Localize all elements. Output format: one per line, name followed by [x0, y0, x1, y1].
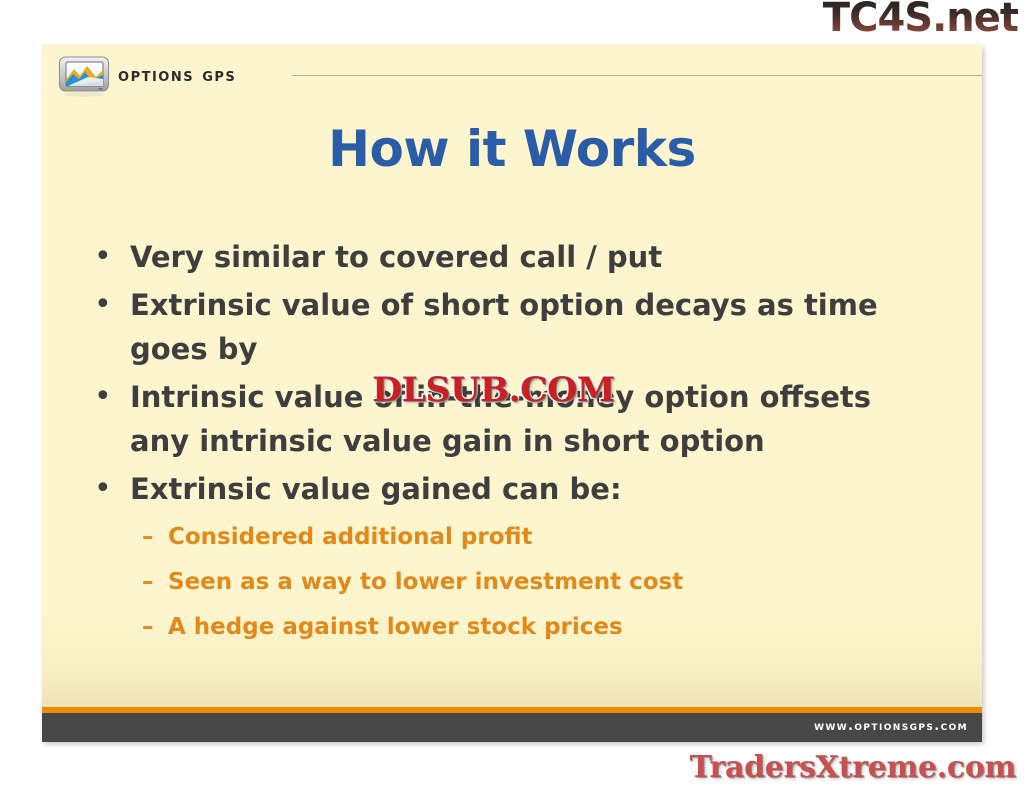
options-gps-logo-text: Options GPS [118, 64, 236, 86]
bullet-marker-icon: • [94, 283, 130, 327]
list-item: • Very similar to covered call / put [94, 235, 958, 279]
bullet-text: Extrinsic value gained can be: [130, 467, 930, 511]
bullet-marker-icon: • [94, 235, 130, 279]
sub-list-item: – Considered additional profit [142, 515, 958, 559]
dash-marker-icon: – [142, 560, 168, 604]
bullet-text: Very similar to covered call / put [130, 235, 930, 279]
sub-bullet-text: A hedge against lower stock prices [168, 605, 958, 649]
gps-device-icon [58, 55, 110, 97]
dash-marker-icon: – [142, 515, 168, 559]
tradersxtreme-brand-watermark: TradersXtreme.com [690, 750, 1016, 785]
header-divider [292, 75, 982, 76]
footer-url-text: www.OptionsGPS.com [814, 719, 968, 734]
sub-bullet-list: – Considered additional profit – Seen as… [94, 515, 958, 649]
sub-bullet-text: Seen as a way to lower investment cost [168, 560, 958, 604]
bullet-marker-icon: • [94, 467, 130, 511]
sub-list-item: – A hedge against lower stock prices [142, 605, 958, 649]
sub-list-item: – Seen as a way to lower investment cost [142, 560, 958, 604]
bullet-text: Extrinsic value of short option decays a… [130, 283, 930, 371]
sub-bullet-text: Considered additional profit [168, 515, 958, 559]
page-title: How it Works [42, 120, 982, 178]
dash-marker-icon: – [142, 605, 168, 649]
slide-footer: www.OptionsGPS.com [42, 713, 982, 742]
bullet-marker-icon: • [94, 375, 130, 419]
list-item: • Extrinsic value of short option decays… [94, 283, 958, 371]
dlsub-watermark: DLSUB.COM [372, 370, 615, 410]
slide-header: Options GPS [42, 45, 982, 107]
list-item: • Extrinsic value gained can be: [94, 467, 958, 511]
bullet-list: • Very similar to covered call / put • E… [94, 235, 958, 650]
tc4s-brand-watermark: TC4S.net [823, 0, 1018, 38]
